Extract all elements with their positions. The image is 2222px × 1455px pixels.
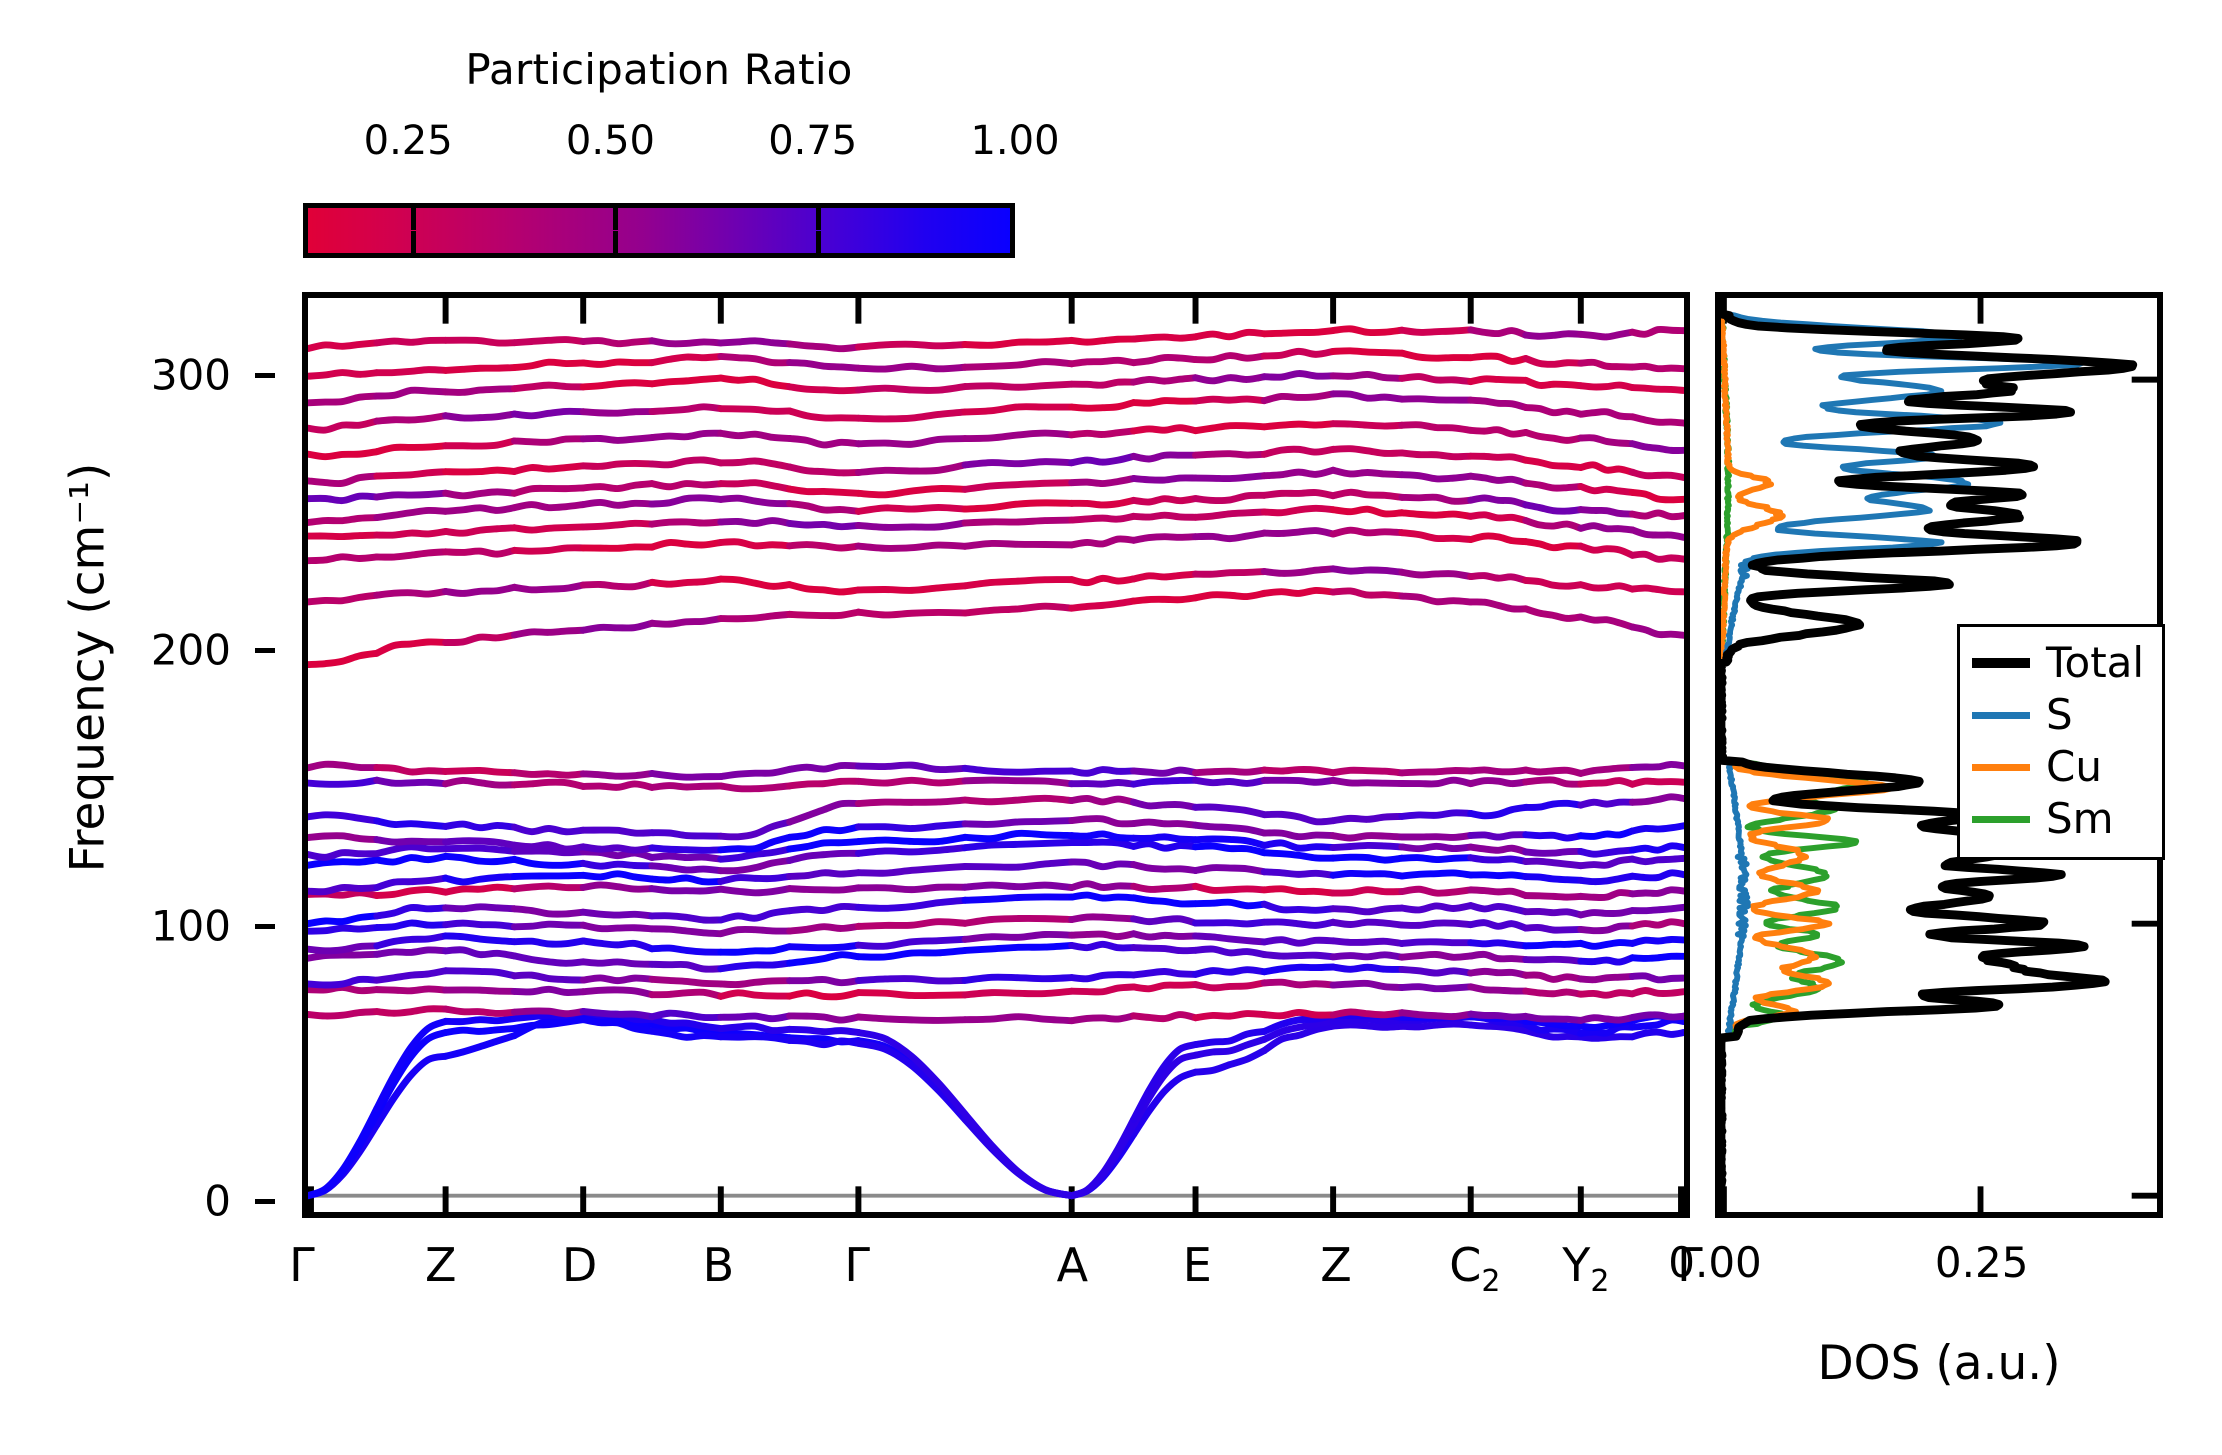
- legend-label: S: [2046, 694, 2073, 736]
- legend-entry: Cu: [1972, 741, 2144, 793]
- band-curve: [308, 508, 1684, 537]
- band-curve: [308, 967, 1684, 985]
- legend-swatch: [1972, 712, 2030, 719]
- band-x-tick-label: A: [1057, 1238, 1088, 1292]
- band-x-tick-label: Z: [425, 1238, 457, 1292]
- colorbar-tick-label: 0.75: [768, 118, 857, 164]
- dos-x-axis-tick-labels: 0.000.25: [1715, 1238, 2163, 1308]
- legend-swatch: [1972, 764, 2030, 771]
- band-x-tick-label: B: [703, 1238, 735, 1292]
- colorbar-tick-labels: 0.250.500.751.00: [303, 118, 1015, 168]
- band-curve: [308, 394, 1684, 430]
- band-x-tick-label: Y2: [1562, 1238, 1609, 1299]
- colorbar-tick-mark: [816, 231, 821, 253]
- y-axis-tick-labels: 0100200300: [70, 292, 275, 1218]
- band-curve: [308, 764, 1684, 777]
- y-axis-tick-mark: [255, 648, 275, 653]
- legend-entry: Sm: [1972, 793, 2144, 845]
- y-axis-tick-mark: [255, 373, 275, 378]
- band-x-tick-label: Γ: [844, 1238, 870, 1292]
- legend-label: Total: [2046, 642, 2144, 684]
- y-axis-tick-mark: [255, 1199, 275, 1204]
- band-structure-plot: [308, 298, 1684, 1212]
- colorbar[interactable]: [303, 203, 1015, 258]
- band-curve: [308, 329, 1684, 349]
- colorbar-tick-mark: [613, 231, 618, 253]
- band-x-tick-label: Z: [1320, 1238, 1352, 1292]
- colorbar-tick-mark: [816, 208, 821, 230]
- y-axis-tick-label: 300: [151, 350, 231, 399]
- band-curve: [308, 797, 1684, 837]
- colorbar-tick-label: 1.00: [970, 118, 1059, 164]
- band-x-tick-label: D: [562, 1238, 597, 1292]
- band-x-axis-tick-labels: ΓZDBΓAEZC2Y2Γ: [302, 1238, 1690, 1324]
- dos-x-tick-label: 0.00: [1668, 1238, 1762, 1287]
- legend-swatch: [1972, 658, 2030, 668]
- y-axis-tick-label: 200: [151, 626, 231, 675]
- colorbar-title: Participation Ratio: [303, 45, 1015, 94]
- band-curve: [308, 1017, 1684, 1196]
- band-curve: [308, 917, 1684, 934]
- dos-x-tick-label: 0.25: [1935, 1238, 2029, 1287]
- colorbar-tick-label: 0.25: [364, 118, 453, 164]
- legend-entry: Total: [1972, 637, 2144, 689]
- colorbar-tick-label: 0.50: [566, 118, 655, 164]
- legend-label: Sm: [2046, 798, 2114, 840]
- y-axis-tick-mark: [255, 924, 275, 929]
- band-curve: [308, 590, 1684, 664]
- band-x-tick-label: C2: [1449, 1238, 1500, 1299]
- band-curve: [308, 530, 1684, 560]
- y-axis-tick-label: 100: [151, 901, 231, 950]
- y-axis-tick-label: 0: [204, 1177, 231, 1226]
- band-curve: [308, 1017, 1684, 1196]
- band-curve: [308, 944, 1684, 969]
- band-curve: [308, 780, 1684, 789]
- legend-entry: S: [1972, 689, 2144, 741]
- band-curve: [308, 982, 1684, 997]
- band-curve: [308, 351, 1684, 376]
- band-structure-panel[interactable]: [302, 292, 1690, 1218]
- band-x-tick-label: Γ: [289, 1238, 315, 1292]
- band-curve: [308, 569, 1684, 602]
- figure-canvas: Participation Ratio 0.250.500.751.00 Fre…: [0, 0, 2222, 1455]
- dos-x-axis-label: DOS (a.u.): [1715, 1336, 2163, 1391]
- band-curve: [308, 1012, 1684, 1196]
- dos-legend: TotalSCuSm: [1957, 624, 2165, 860]
- band-x-tick-label: E: [1183, 1238, 1212, 1292]
- colorbar-tick-mark: [411, 231, 416, 253]
- legend-label: Cu: [2046, 746, 2102, 788]
- legend-swatch: [1972, 816, 2030, 823]
- colorbar-tick-mark: [411, 208, 416, 230]
- colorbar-tick-mark: [613, 208, 618, 230]
- band-curve: [308, 424, 1684, 457]
